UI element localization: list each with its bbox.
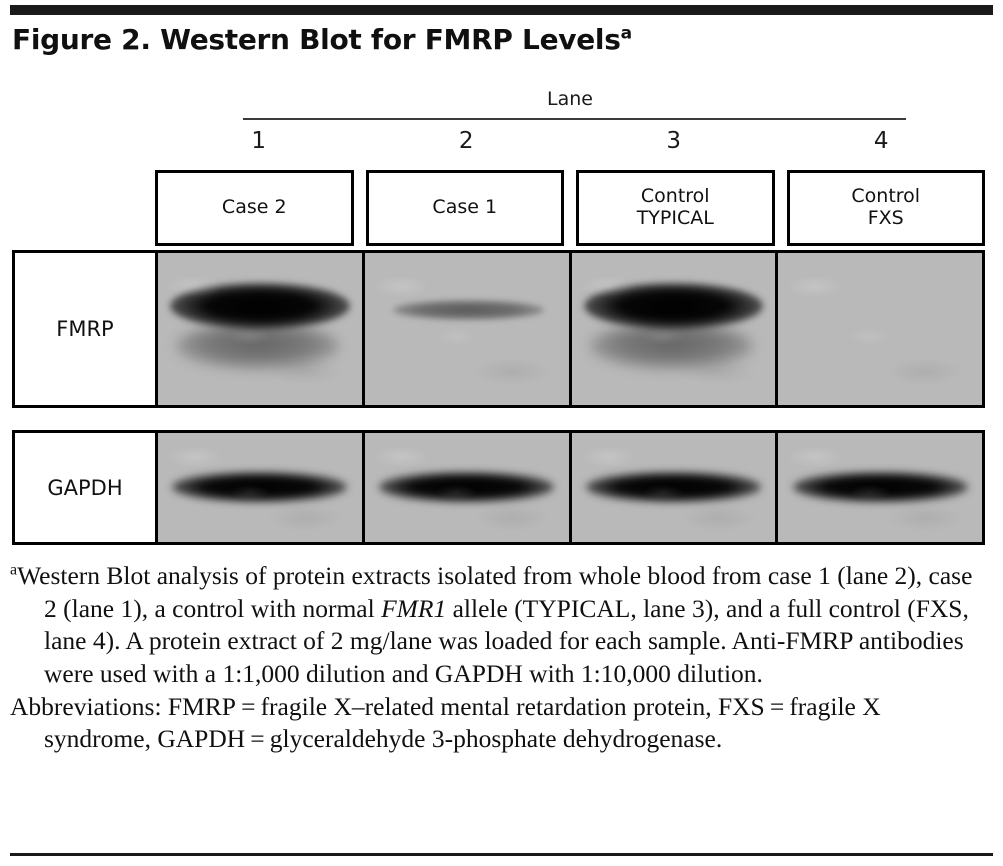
blot-band-fmrp-lane-1 — [158, 253, 365, 405]
lane-group-rule — [243, 118, 906, 120]
sample-line1-lane-4: Control — [851, 185, 920, 207]
footnote-main: aWestern Blot analysis of protein extrac… — [10, 560, 990, 691]
blot-row-fmrp: FMRP — [12, 250, 985, 408]
band-glyph-smear — [176, 323, 339, 369]
blot-strip-fmrp — [158, 253, 982, 405]
top-divider-rule — [10, 5, 993, 15]
sample-box-lane-3: Control TYPICAL — [576, 170, 775, 246]
blot-strip-gapdh — [158, 433, 982, 542]
blot-band-gapdh-lane-2 — [365, 433, 572, 542]
sample-line2-lane-3: TYPICAL — [637, 207, 714, 229]
blot-band-gapdh-lane-1 — [158, 433, 365, 542]
blot-band-fmrp-lane-4 — [778, 253, 982, 405]
sample-box-lane-1: Case 2 — [155, 170, 354, 246]
footnote-main-body: aWestern Blot analysis of protein extrac… — [10, 561, 972, 688]
blot-band-fmrp-lane-2 — [365, 253, 572, 405]
lane-group-label: Lane — [155, 88, 985, 110]
footnote-gene-name: FMR1 — [381, 594, 446, 623]
blot-band-gapdh-lane-4 — [778, 433, 982, 542]
band-glyph-gapdh — [793, 472, 968, 501]
lane-number-4: 4 — [778, 128, 986, 158]
band-glyph-smear — [590, 323, 753, 369]
sample-label-row: Case 2 Case 1 Control TYPICAL Control FX… — [155, 170, 985, 246]
band-glyph-faint — [393, 300, 544, 320]
blot-band-gapdh-lane-3 — [572, 433, 779, 542]
sample-line1-lane-1: Case 2 — [222, 196, 287, 218]
figure-title-footnote-marker: a — [621, 24, 632, 44]
sample-line2-lane-4: FXS — [868, 207, 904, 229]
sample-line1-lane-3: Control — [641, 185, 710, 207]
bottom-divider-rule — [10, 853, 993, 856]
sample-box-lane-4: Control FXS — [787, 170, 986, 246]
sample-line1-lane-2: Case 1 — [432, 196, 497, 218]
blot-band-fmrp-lane-3 — [572, 253, 779, 405]
sample-label-lane-2: Case 1 — [432, 197, 497, 219]
figure-title-text: Figure 2. Western Blot for FMRP Levels — [12, 23, 621, 56]
band-glyph-gapdh — [172, 472, 347, 501]
band-glyph-gapdh — [586, 472, 761, 501]
footnote-abbreviations-text: Abbreviations: FMRP = fragile X–related … — [10, 692, 881, 754]
sample-label-lane-4: Control FXS — [851, 186, 920, 230]
lane-number-3: 3 — [570, 128, 778, 158]
lane-number-2: 2 — [363, 128, 571, 158]
sample-label-lane-3: Control TYPICAL — [637, 186, 714, 230]
band-glyph-gapdh — [379, 472, 554, 501]
lane-number-row: 1 2 3 4 — [155, 128, 985, 158]
blot-row-gapdh: GAPDH — [12, 430, 985, 545]
sample-box-lane-2: Case 1 — [366, 170, 565, 246]
row-label-gapdh: GAPDH — [15, 433, 158, 542]
lane-number-1: 1 — [155, 128, 363, 158]
figure-title: Figure 2. Western Blot for FMRP Levelsa — [12, 23, 972, 56]
band-glyph-strong — [170, 283, 349, 329]
figure-footnotes: aWestern Blot analysis of protein extrac… — [10, 560, 990, 756]
band-glyph-strong — [584, 283, 763, 329]
sample-label-lane-1: Case 2 — [222, 197, 287, 219]
footnote-abbreviations: Abbreviations: FMRP = fragile X–related … — [10, 691, 990, 756]
row-label-fmrp: FMRP — [15, 253, 158, 405]
